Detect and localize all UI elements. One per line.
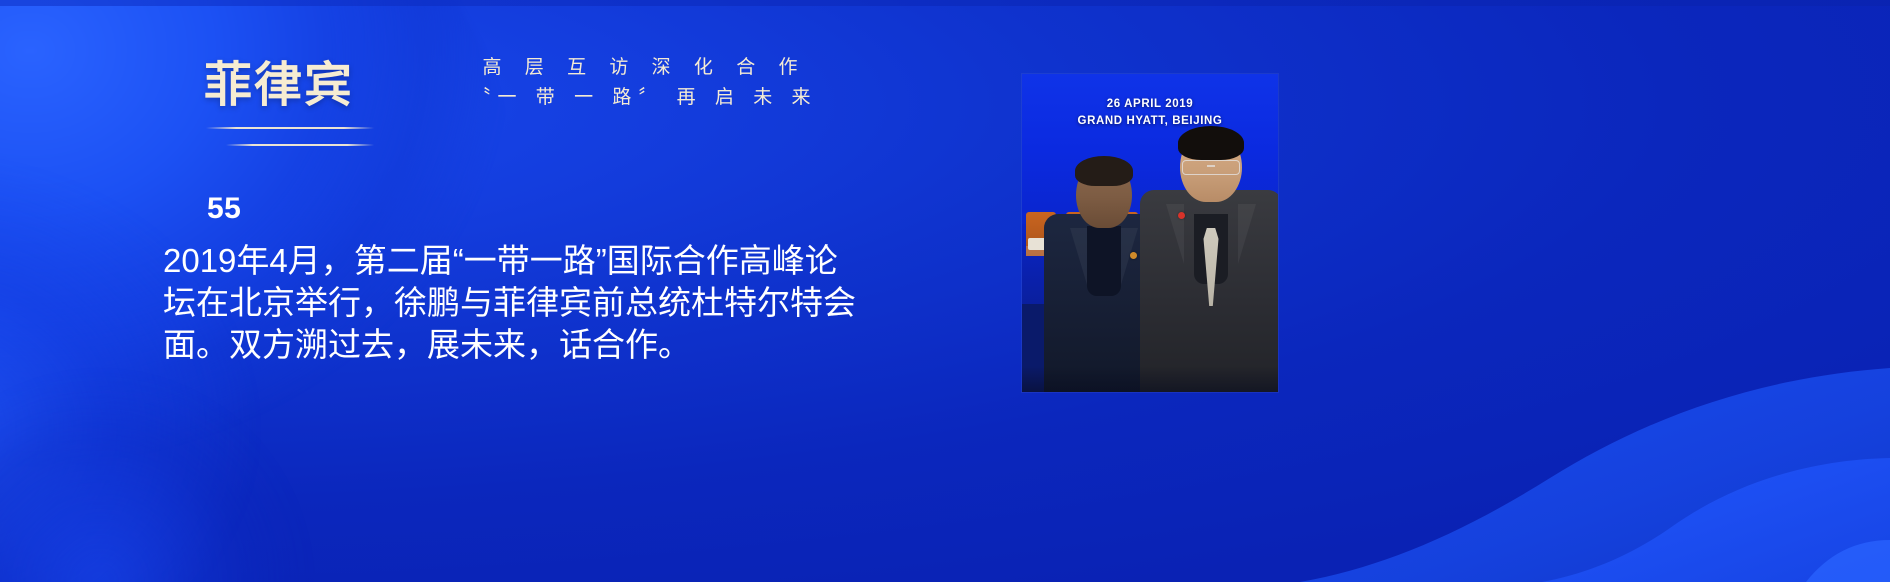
body-line: 坛在北京举行，徐鹏与菲律宾前总统杜特尔特会 [163, 282, 863, 324]
photo-bottom-fade [1022, 366, 1278, 392]
lapel-pin [1178, 212, 1185, 219]
photo-caption: 26 APRIL 2019 GRAND HYATT, BEIJING [1022, 96, 1278, 130]
photo-scene: 26 APRIL 2019 GRAND HYATT, BEIJING [1022, 74, 1278, 392]
body-paragraph: 2019年4月，第二届“一带一路”国际合作高峰论 坛在北京举行，徐鹏与菲律宾前总… [163, 240, 863, 366]
body-line: 2019年4月，第二届“一带一路”国际合作高峰论 [163, 240, 863, 282]
lapel-left [1070, 228, 1088, 288]
subtitle: 高 层 互 访 深 化 合 作 〝一 带 一 路〞 再 启 未 来 [300, 53, 980, 113]
lapel-pin [1130, 252, 1137, 259]
body-line: 面。双方溯过去，展未来，话合作。 [163, 324, 863, 366]
shirt [1087, 226, 1121, 296]
person-right [1140, 130, 1278, 392]
slide-canvas: 菲律宾 高 层 互 访 深 化 合 作 〝一 带 一 路〞 再 启 未 来 55… [0, 0, 1890, 582]
lapel-right [1238, 204, 1256, 264]
hair [1178, 126, 1244, 160]
title-underline-secondary [226, 144, 374, 146]
hair [1075, 156, 1133, 186]
photo-caption-venue: GRAND HYATT, BEIJING [1022, 113, 1278, 130]
event-photo: 26 APRIL 2019 GRAND HYATT, BEIJING [1022, 74, 1278, 392]
subtitle-line-2: 〝一 带 一 路〞 再 启 未 来 [300, 83, 980, 113]
eyeglasses-icon [1182, 160, 1240, 175]
title-underline-primary [206, 127, 374, 129]
top-edge-band [0, 0, 1890, 6]
item-number: 55 [207, 192, 241, 226]
subtitle-line-1: 高 层 互 访 深 化 合 作 [483, 57, 807, 78]
photo-caption-date: 26 APRIL 2019 [1022, 96, 1278, 113]
